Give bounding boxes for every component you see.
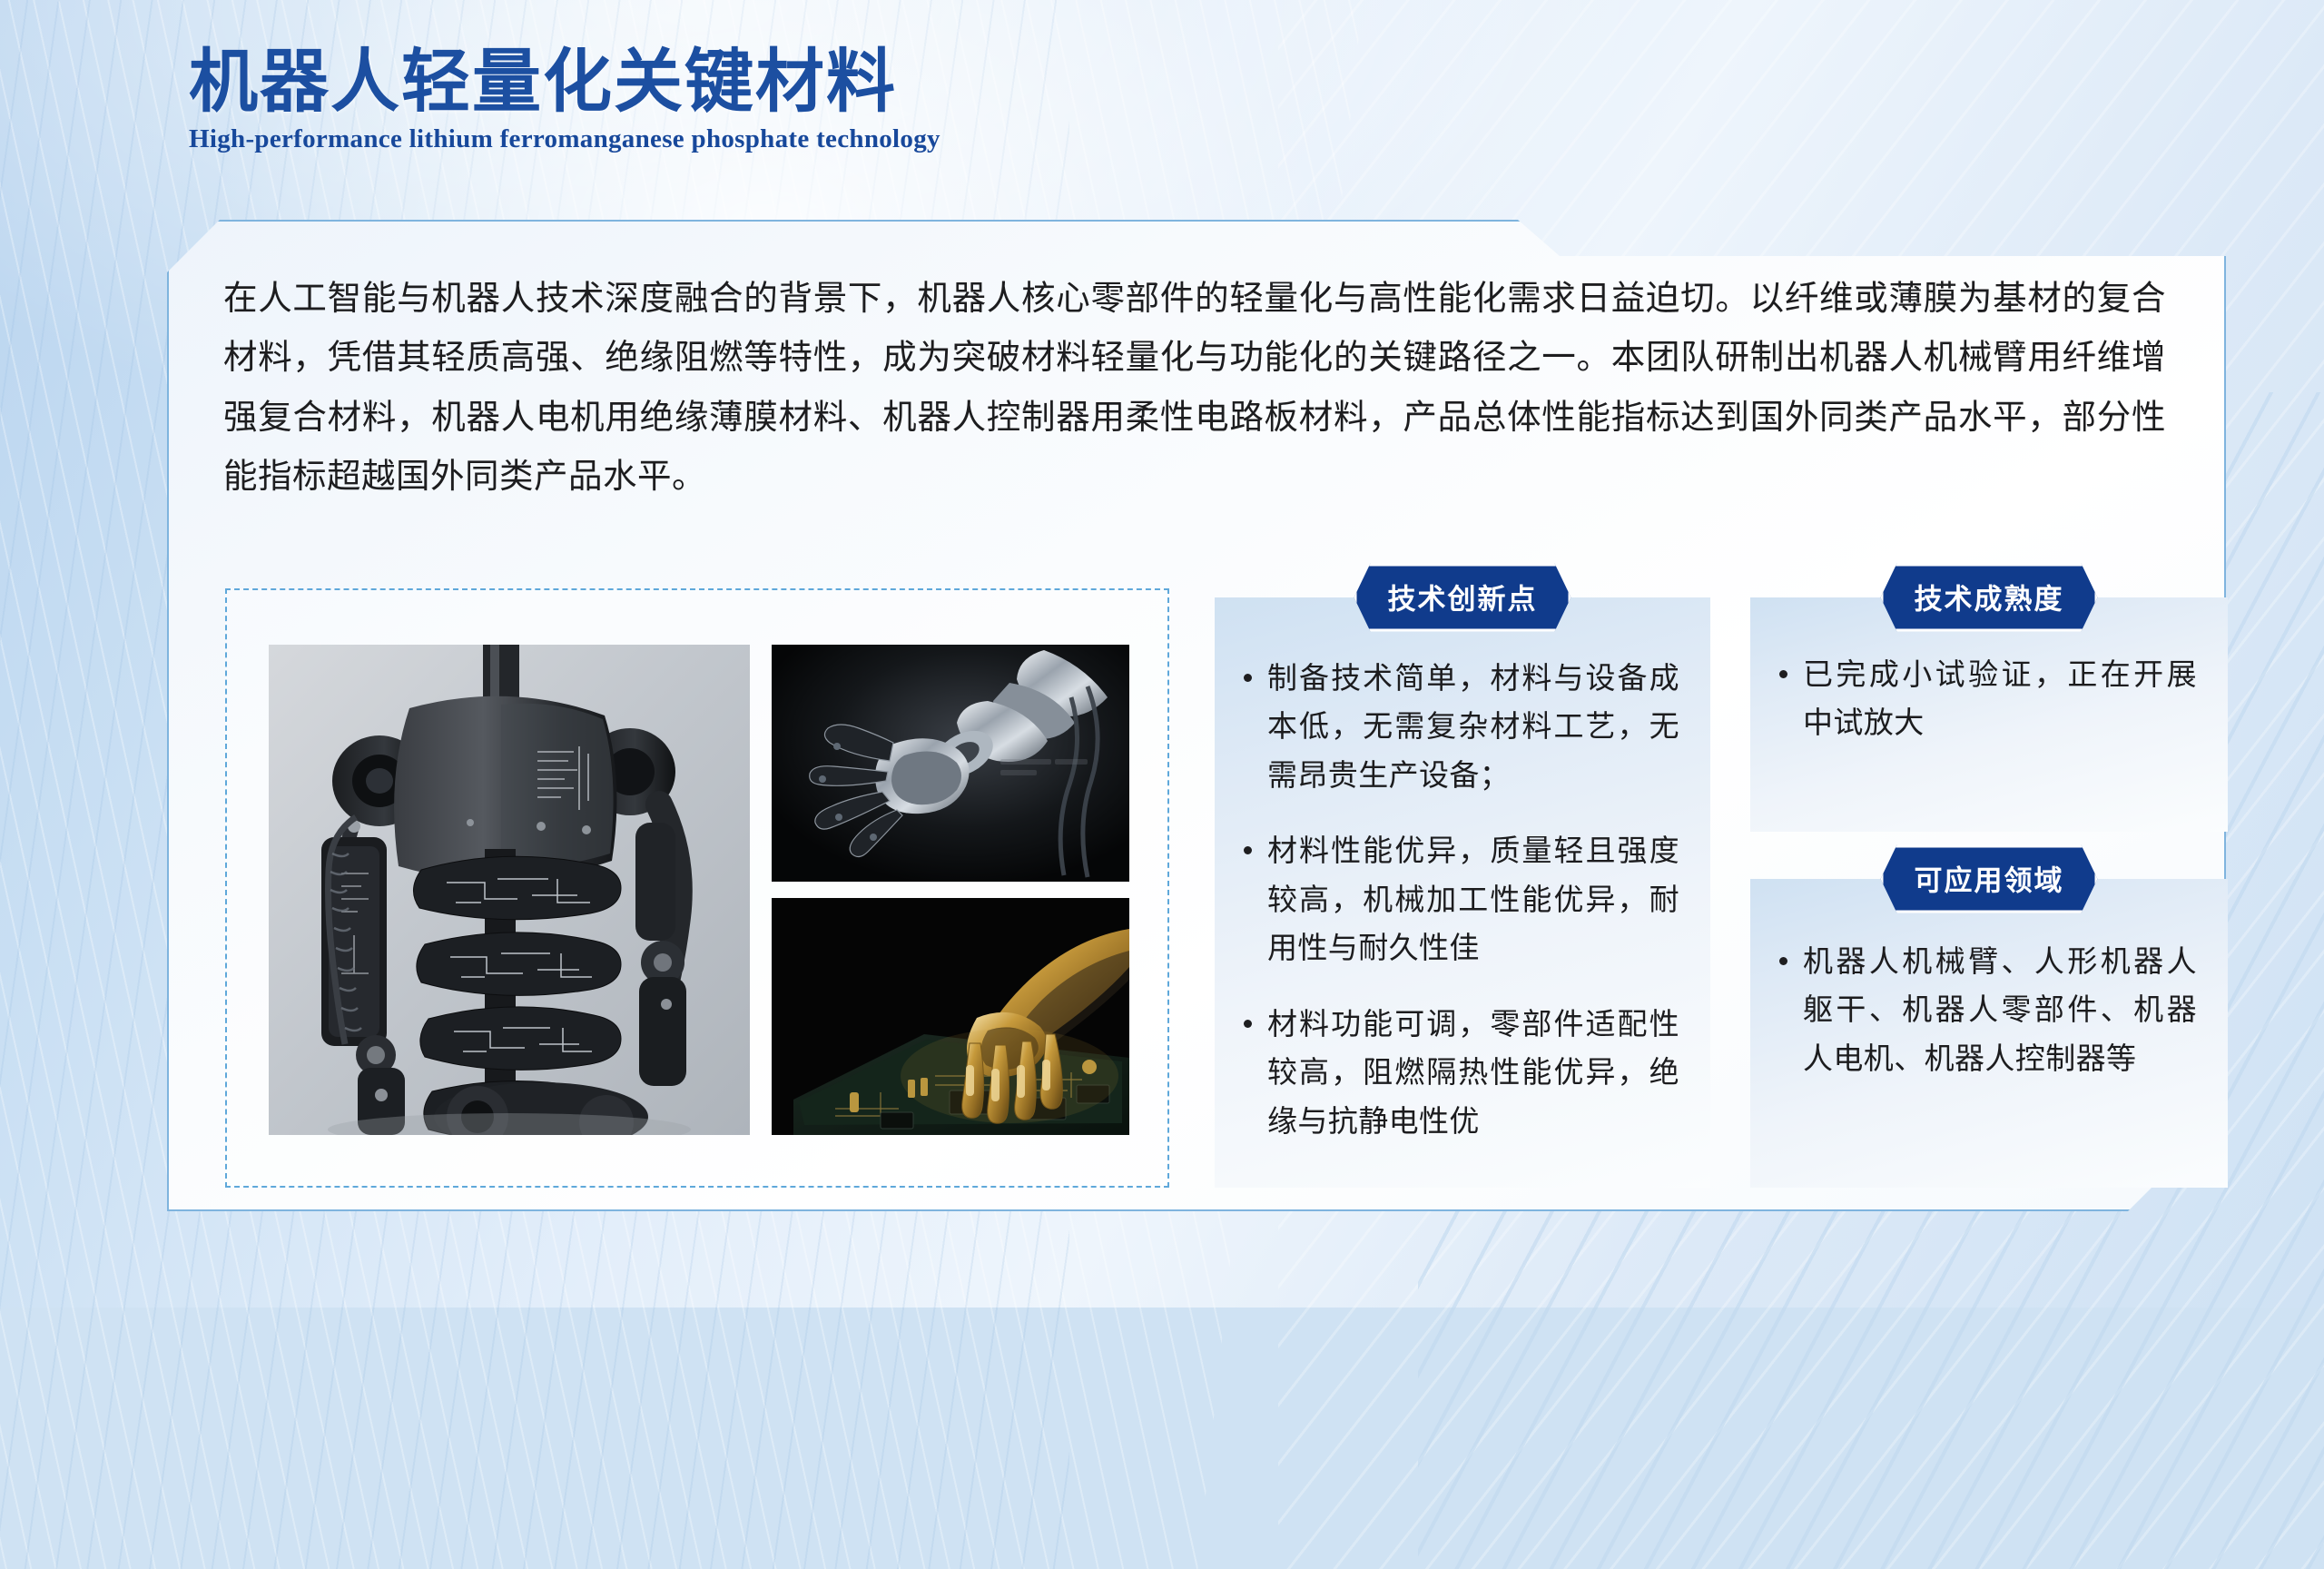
page-title: 机器人轻量化关键材料 xyxy=(189,44,940,121)
list-item: 材料性能优异，质量轻且强度较高，机械加工性能优异，耐用性与耐久性佳 xyxy=(1240,826,1679,972)
intro-paragraph: 在人工智能与机器人技术深度融合的背景下，机器人核心零部件的轻量化与高性能化需求日… xyxy=(223,269,2166,506)
robot-hand-circuit-illustration xyxy=(772,898,1129,1135)
badge-applications: 可应用领域 xyxy=(1881,845,2098,913)
humanoid-robot-illustration xyxy=(269,645,750,1135)
list-item: 制备技术简单，材料与设备成本低，无需复杂材料工艺，无需昂贵生产设备； xyxy=(1240,654,1679,799)
panel-applications: 可应用领域 机器人机械臂、人形机器人躯干、机器人零部件、机器人电机、机器人控制器… xyxy=(1750,879,2228,1188)
humanoid-robot-torso-photo[interactable] xyxy=(269,645,750,1135)
robot-hand-metallic-photo[interactable] xyxy=(772,645,1129,882)
panel-innovation: 技术创新点 制备技术简单，材料与设备成本低，无需复杂材料工艺，无需昂贵生产设备；… xyxy=(1215,597,1710,1188)
list-item: 材料功能可调，零部件适配性较高，阻燃隔热性能优异，绝缘与抗静电性优 xyxy=(1240,1000,1679,1145)
badge-innovation: 技术创新点 xyxy=(1354,564,1571,632)
list-item: 机器人机械臂、人形机器人躯干、机器人零部件、机器人电机、机器人控制器等 xyxy=(1776,937,2197,1082)
robot-hand-metallic-illustration xyxy=(772,645,1129,882)
panel-maturity: 技术成熟度 已完成小试验证，正在开展中试放大 xyxy=(1750,597,2228,832)
gallery-dashed-frame xyxy=(225,588,1169,1188)
gallery-grid xyxy=(269,645,1129,1135)
innovation-bullet-list: 制备技术简单，材料与设备成本低，无需复杂材料工艺，无需昂贵生产设备； 材料性能优… xyxy=(1215,597,1710,1145)
badge-maturity: 技术成熟度 xyxy=(1881,564,2098,632)
list-item: 已完成小试验证，正在开展中试放大 xyxy=(1776,650,2197,747)
page-subtitle: High-performance lithium ferromanganese … xyxy=(189,124,940,154)
page-header: 机器人轻量化关键材料 High-performance lithium ferr… xyxy=(189,44,940,154)
robot-hand-circuit-photo[interactable] xyxy=(772,898,1129,1135)
gallery-right-column xyxy=(772,645,1129,1135)
